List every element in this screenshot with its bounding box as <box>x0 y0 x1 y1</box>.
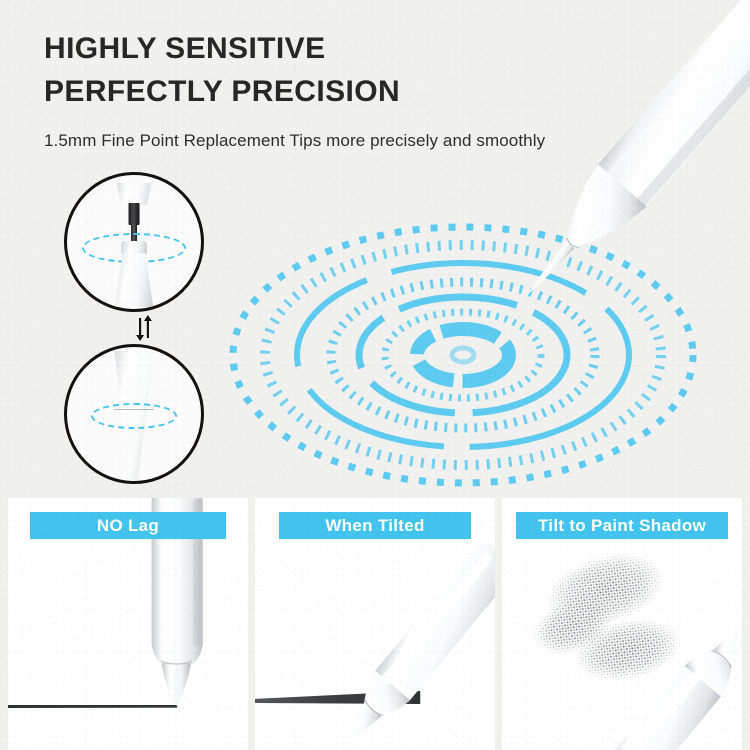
product-feature-poster: HIGHLY SENSITIVE PERFECTLY PRECISION 1.5… <box>0 0 750 750</box>
panel-label-when-tilted: When Tilted <box>279 512 471 539</box>
feature-panel-when-tilted: When Tilted <box>255 498 495 750</box>
feature-panel-no-lag: NO Lag <box>8 498 248 750</box>
headline-line-1: HIGHLY SENSITIVE <box>44 28 400 71</box>
panel-label-no-lag: NO Lag <box>30 512 226 539</box>
tip-assembled-illustration <box>64 344 204 484</box>
panel-label-tilt-to-paint-shadow: Tilt to Paint Shadow <box>516 512 728 539</box>
tip-cap-shape <box>114 183 154 205</box>
stylus-pen-illustration <box>430 0 750 400</box>
rotate-arrow <box>91 403 177 429</box>
tip-detach-illustration <box>64 172 204 312</box>
up-down-swap-arrows <box>131 314 157 342</box>
tip-collar-shape <box>121 241 147 255</box>
tip-replacement-diagram <box>58 172 230 492</box>
metal-shaft-shape <box>129 203 140 225</box>
page-title: HIGHLY SENSITIVE PERFECTLY PRECISION <box>44 28 400 113</box>
feature-panels: NO Lag <box>0 498 750 750</box>
subheadline: 1.5mm Fine Point Replacement Tips more p… <box>44 131 545 151</box>
feature-panel-tilt-to-paint-shadow: Tilt to Paint Shadow <box>502 498 742 750</box>
headline-line-2: PERFECTLY PRECISION <box>44 71 400 114</box>
